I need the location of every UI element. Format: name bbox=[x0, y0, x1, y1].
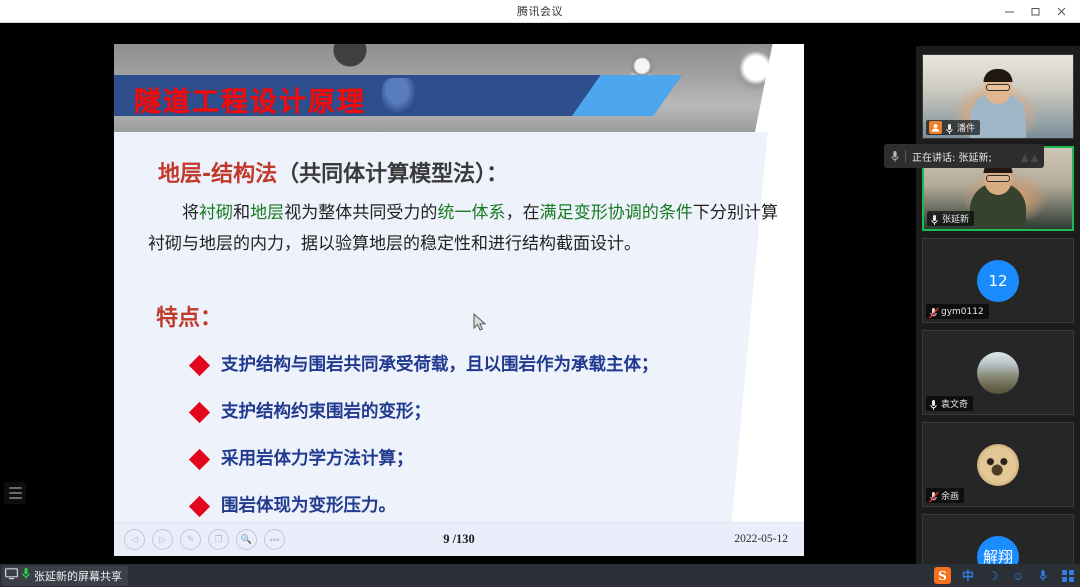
slide-bullet-list: 支护结构与围岩共同承受荷载，且以围岩作为承载主体； 支护结构约束围岩的变形； 采… bbox=[192, 354, 772, 542]
list-item-label: 围岩体现为变形压力。 bbox=[221, 495, 396, 517]
microphone-icon bbox=[930, 213, 939, 225]
microphone-green-icon bbox=[21, 567, 31, 585]
monitor-icon bbox=[5, 567, 18, 585]
participant-tile[interactable]: 潘件 bbox=[922, 54, 1074, 139]
participant-tile[interactable]: 袁文奇 bbox=[922, 330, 1074, 415]
ime-moon-icon[interactable]: ☽ bbox=[985, 564, 1001, 587]
para-g1: 衬砌 bbox=[199, 203, 233, 223]
participant-panel[interactable]: 潘件 张延新 12 gym0112 bbox=[916, 46, 1080, 587]
diamond-bullet-icon bbox=[189, 449, 210, 470]
microphone-icon bbox=[945, 122, 954, 134]
para-t3: 视为整体共同受力的 bbox=[284, 203, 437, 223]
participant-name: gym0112 bbox=[941, 307, 984, 317]
host-badge-icon bbox=[929, 121, 942, 134]
shared-screen-stage: 隧道工程设计原理 地层-结构法（共同体计算模型法）： 将衬砌和地层视为整体共同受… bbox=[0, 23, 1080, 564]
presentation-slide: 隧道工程设计原理 地层-结构法（共同体计算模型法）： 将衬砌和地层视为整体共同受… bbox=[114, 44, 804, 556]
list-item-label: 支护结构与围岩共同承受荷载，且以围岩作为承载主体； bbox=[221, 354, 659, 376]
meeting-watermark-icon: ▲▲ bbox=[1018, 150, 1038, 165]
taskbar-item-label: 张延新的屏幕共享 bbox=[34, 568, 122, 584]
close-icon[interactable] bbox=[1048, 0, 1074, 23]
para-g4: 满足变形协调的条件 bbox=[540, 203, 693, 223]
para-g2: 地层 bbox=[250, 203, 284, 223]
para-t2: 和 bbox=[233, 203, 250, 223]
participant-name: 张延新 bbox=[942, 212, 969, 225]
list-item-label: 采用岩体力学方法计算； bbox=[221, 448, 414, 470]
participant-namebar: 余画 bbox=[926, 488, 964, 503]
taskbar-item-screen-share[interactable]: 张延新的屏幕共享 bbox=[2, 566, 128, 586]
participant-name: 余画 bbox=[941, 489, 959, 502]
sogou-ime-icon[interactable]: S bbox=[934, 567, 951, 584]
list-item: 采用岩体力学方法计算； bbox=[192, 448, 772, 470]
avatar bbox=[977, 444, 1019, 486]
avatar: 12 bbox=[977, 260, 1019, 302]
participant-tile[interactable]: 12 gym0112 bbox=[922, 238, 1074, 323]
minimize-icon[interactable] bbox=[996, 0, 1022, 23]
speaking-text: 正在讲话: 张延新; bbox=[912, 149, 992, 164]
window-controls bbox=[996, 0, 1074, 23]
heading-black-part: （共同体计算模型法）： bbox=[277, 162, 508, 187]
ime-apps-grid-icon[interactable] bbox=[1060, 564, 1076, 587]
slide-heading-features: 特点： bbox=[156, 300, 222, 332]
window-title: 腾讯会议 bbox=[517, 3, 563, 19]
slide-body: 地层-结构法（共同体计算模型法）： 将衬砌和地层视为整体共同受力的统一体系，在满… bbox=[114, 132, 804, 556]
microphone-muted-icon bbox=[929, 490, 938, 502]
ime-emoji-icon[interactable]: ☺ bbox=[1010, 564, 1026, 587]
restore-icon[interactable] bbox=[1022, 0, 1048, 23]
slide-heading-primary: 地层-结构法（共同体计算模型法）： bbox=[158, 156, 508, 188]
list-item-label: 支护结构约束围岩的变形； bbox=[221, 401, 431, 423]
list-menu-icon[interactable] bbox=[4, 482, 26, 504]
avatar bbox=[977, 352, 1019, 394]
diamond-bullet-icon bbox=[189, 355, 210, 376]
diamond-bullet-icon bbox=[189, 402, 210, 423]
system-tray: S 中 ☽ ☺ bbox=[934, 564, 1076, 587]
participant-name: 潘件 bbox=[957, 121, 975, 134]
heading-red-part: 地层-结构法 bbox=[158, 162, 277, 187]
mouse-pointer bbox=[473, 313, 487, 337]
microphone-muted-icon bbox=[929, 306, 938, 318]
list-item: 围岩体现为变形压力。 bbox=[192, 495, 772, 517]
diamond-bullet-icon bbox=[189, 496, 210, 517]
slide-date: 2022-05-12 bbox=[734, 533, 788, 545]
para-t1: 将 bbox=[182, 203, 199, 223]
participant-namebar: 潘件 bbox=[926, 120, 980, 135]
list-item: 支护结构与围岩共同承受荷载，且以围岩作为承载主体； bbox=[192, 354, 772, 376]
window-titlebar: 腾讯会议 bbox=[0, 0, 1080, 23]
ime-voice-icon[interactable] bbox=[1035, 564, 1051, 587]
speaking-indicator: 正在讲话: 张延新; ▲▲ bbox=[884, 144, 1044, 168]
slide-title: 隧道工程设计原理 bbox=[134, 80, 366, 119]
para-g3: 统一体系 bbox=[437, 203, 505, 223]
participant-tile[interactable]: 余画 bbox=[922, 422, 1074, 507]
slide-paragraph: 将衬砌和地层视为整体共同受力的统一体系，在满足变形协调的条件下分别计算衬砌与地层… bbox=[148, 198, 778, 260]
slide-toolbar: ◁ ▷ ✎ ❐ 🔍 ••• 9 /130 2022-05-12 bbox=[114, 522, 804, 556]
microphone-icon bbox=[890, 150, 899, 162]
ime-chinese-mode-icon[interactable]: 中 bbox=[960, 564, 976, 587]
microphone-icon bbox=[929, 398, 938, 410]
participant-name: 袁文奇 bbox=[941, 397, 968, 410]
list-item: 支护结构约束围岩的变形； bbox=[192, 401, 772, 423]
participant-namebar: 袁文奇 bbox=[926, 396, 973, 411]
page-indicator: 9 /130 bbox=[114, 532, 804, 547]
taskbar: 张延新的屏幕共享 S 中 ☽ ☺ bbox=[0, 564, 1080, 587]
participant-namebar: 张延新 bbox=[927, 211, 974, 226]
participant-namebar: gym0112 bbox=[926, 304, 989, 319]
para-t4: ，在 bbox=[506, 203, 540, 223]
